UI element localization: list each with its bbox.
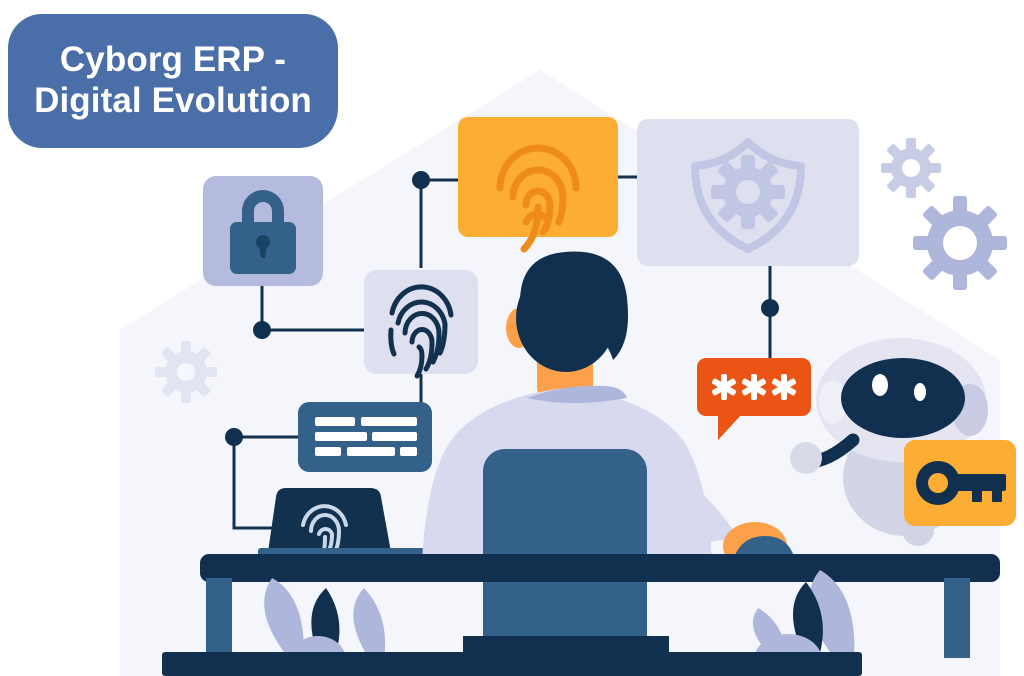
title-badge: Cyborg ERP - Digital Evolution: [8, 14, 338, 148]
desk-leg-right: [944, 578, 970, 658]
person-head: [516, 264, 616, 372]
title-text: Cyborg ERP - Digital Evolution: [20, 40, 326, 121]
title-line-2: Digital Evolution: [34, 81, 312, 120]
floor-bar: [162, 652, 862, 676]
illustration-canvas: Cyborg ERP - Digital Evolution: [0, 0, 1024, 676]
desk-top: [200, 554, 1000, 582]
title-line-1: Cyborg ERP -: [60, 40, 286, 79]
desk-leg-left: [206, 578, 232, 658]
